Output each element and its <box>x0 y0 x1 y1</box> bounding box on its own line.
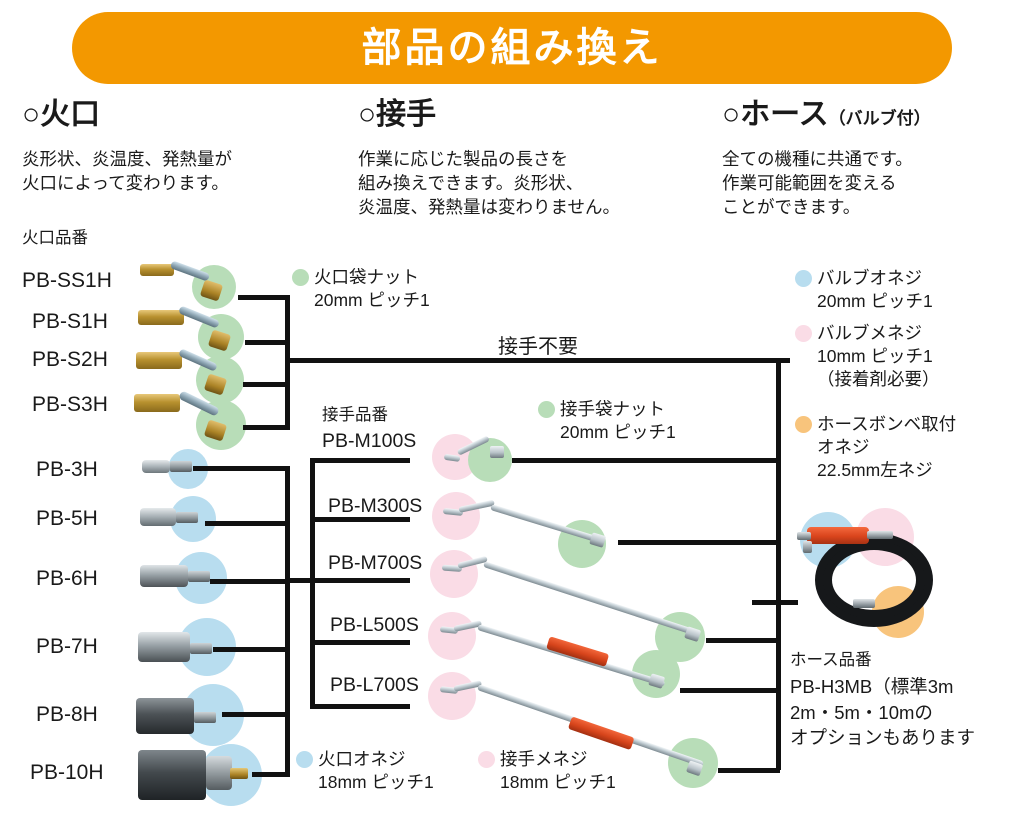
hose-part-number: PB-H3MB（標準3m 2m・5m・10mの オプションもあります <box>790 674 1024 751</box>
connector-line-l700s-right <box>718 768 780 773</box>
legend-text-joint-cap-nut: 接手袋ナット 20mm ピッチ1 <box>560 398 676 444</box>
connector-line-m300s-left <box>310 517 410 522</box>
connector-line-m100s-right <box>512 458 780 463</box>
part-number-pb-5h: PB-5H <box>36 508 98 529</box>
page-title-banner: 部品の組み換え <box>72 12 952 84</box>
section-desc-burner: 炎形状、炎温度、発熱量が 火口によって変わります。 <box>22 148 342 196</box>
legend-dot-orange-hose-cylinder <box>795 416 812 433</box>
connector-line-l700s-left <box>310 704 410 709</box>
part-number-pb-3h: PB-3H <box>36 459 98 480</box>
connector-line-8h <box>222 712 290 717</box>
connector-line-3h <box>193 466 290 471</box>
burner-list-label: 火口品番 <box>22 228 88 249</box>
legend-burner-male: 火口オネジ 18mm ピッチ1 <box>296 748 471 794</box>
page-title: 部品の組み換え <box>362 28 663 68</box>
part-number-pb-s3h: PB-S3H <box>32 394 108 415</box>
connector-line-s3h <box>243 425 290 430</box>
legend-burner-cap-nut: 火口袋ナット 20mm ピッチ1 <box>292 266 492 312</box>
part-number-pb-m700s: PB-M700S <box>328 554 422 574</box>
legend-text-hose-cylinder-male: ホースボンベ取付 オネジ 22.5mm左ネジ <box>817 413 956 481</box>
section-desc-hose: 全ての機種に共通です。 作業可能範囲を変える ことができます。 <box>722 148 1012 219</box>
connector-line-5h <box>205 521 290 526</box>
part-number-pb-6h: PB-6H <box>36 568 98 589</box>
product-image-pb-m100s <box>444 440 514 480</box>
legend-dot-green-burner-cap-nut <box>292 269 309 286</box>
connector-bus-joint-left <box>310 458 315 708</box>
connector-line-l500s-right <box>680 688 780 693</box>
legend-hose-cylinder-male: ホースボンベ取付 オネジ 22.5mm左ネジ <box>795 413 1013 481</box>
connector-line-to-hose <box>752 600 798 605</box>
product-image-pb-m300s <box>443 498 603 558</box>
connector-burner-to-joint <box>285 578 310 583</box>
connector-line-m700s-left <box>310 578 410 583</box>
part-number-pb-7h: PB-7H <box>36 636 98 657</box>
part-number-pb-s2h: PB-S2H <box>32 349 108 370</box>
legend-dot-blue-burner-male <box>296 751 313 768</box>
section-desc-joint: 作業に応じた製品の長さを 組み換えできます。炎形状、 炎温度、発熱量は変わりませ… <box>358 148 688 219</box>
connector-line-s1h <box>245 340 290 345</box>
legend-text-burner-male: 火口オネジ 18mm ピッチ1 <box>318 748 434 794</box>
legend-dot-blue-valve-male <box>795 270 812 287</box>
part-number-pb-l700s: PB-L700S <box>330 676 419 696</box>
joint-list-label: 接手品番 <box>322 405 388 426</box>
legend-valve-male: バルブオネジ 20mm ピッチ1 <box>795 267 1010 313</box>
section-heading-burner: ○火口 <box>22 100 100 130</box>
product-image-pb-8h <box>136 696 236 740</box>
connector-line-s2h <box>243 382 290 387</box>
part-number-pb-ss1h: PB-SS1H <box>22 270 112 291</box>
legend-text-joint-female: 接手メネジ 18mm ピッチ1 <box>500 748 616 794</box>
product-image-pb-10h <box>138 748 258 804</box>
connector-line-ss1h <box>238 295 290 300</box>
product-image-hose-assembly <box>795 505 995 645</box>
legend-dot-green-joint-cap-nut <box>538 401 555 418</box>
connector-line-m700s-right <box>706 638 780 643</box>
legend-dot-pink-joint-female <box>478 751 495 768</box>
connector-line-m100s-left <box>310 458 410 463</box>
connector-bus-burner-heads <box>285 466 290 777</box>
part-number-pb-s1h: PB-S1H <box>32 311 108 332</box>
part-number-pb-l500s: PB-L500S <box>330 616 419 636</box>
hose-part-label: ホース品番 <box>790 650 872 671</box>
legend-valve-female: バルブメネジ 10mm ピッチ1 （接着剤必要） <box>795 322 1010 390</box>
product-image-pb-ss1h <box>140 262 240 308</box>
section-heading-hose: ○ホース（バルブ付） <box>722 100 931 130</box>
legend-dot-pink-valve-female <box>795 325 812 342</box>
legend-joint-female: 接手メネジ 18mm ピッチ1 <box>478 748 658 794</box>
legend-text-valve-female: バルブメネジ 10mm ピッチ1 （接着剤必要） <box>817 322 940 390</box>
part-number-pb-8h: PB-8H <box>36 704 98 725</box>
hose-heading-sub: （バルブ付） <box>829 109 931 128</box>
part-number-pb-10h: PB-10H <box>30 762 104 783</box>
part-number-pb-m100s: PB-M100S <box>322 432 416 452</box>
no-joint-label: 接手不要 <box>498 334 578 360</box>
product-image-pb-5h <box>140 504 218 534</box>
part-number-pb-m300s: PB-M300S <box>328 497 422 517</box>
connector-bus-right <box>776 358 781 770</box>
legend-text-valve-male: バルブオネジ 20mm ピッチ1 <box>817 267 933 313</box>
product-image-pb-s3h <box>134 392 250 448</box>
legend-joint-cap-nut: 接手袋ナット 20mm ピッチ1 <box>538 398 743 444</box>
connector-line-6h <box>210 579 290 584</box>
connector-line-7h <box>213 647 290 652</box>
connector-line-l500s-left <box>310 640 410 645</box>
legend-text-burner-cap-nut: 火口袋ナット 20mm ピッチ1 <box>314 266 430 312</box>
connector-line-m300s-right <box>618 540 780 545</box>
section-heading-joint: ○接手 <box>358 100 436 130</box>
